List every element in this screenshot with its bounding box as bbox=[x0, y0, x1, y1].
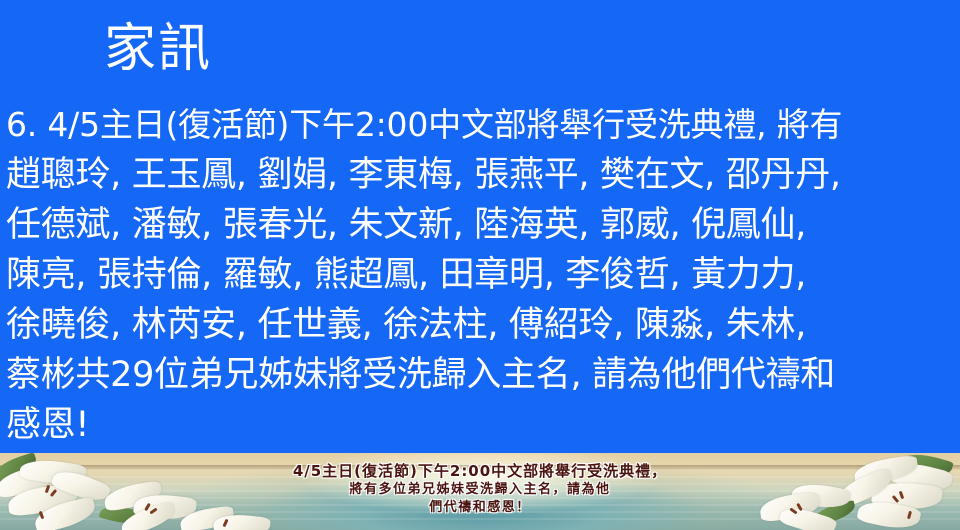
banner-caption-line-2: 將有多位弟兄姊妹受洗歸入主名，請為他 bbox=[0, 481, 960, 499]
announcement-text-block: 6. 4/5主日(復活節)下午2:00中文部將舉行受洗典禮, 將有 趙聰玲, 王… bbox=[6, 100, 958, 450]
banner-caption: 4/5主日(復活節)下午2:00中文部將舉行受洗典禮， 將有多位弟兄姊妹受洗歸入… bbox=[0, 461, 960, 517]
announcement-line: 趙聰玲, 王玉鳳, 劉娟, 李東梅, 張燕平, 樊在文, 邵丹丹, bbox=[6, 150, 958, 200]
page-title: 家訊 bbox=[104, 18, 212, 80]
banner-caption-line-3: 們代禱和感恩！ bbox=[0, 499, 960, 517]
announcement-slide: 家訊 6. 4/5主日(復活節)下午2:00中文部將舉行受洗典禮, 將有 趙聰玲… bbox=[0, 0, 960, 530]
lily-pond-banner-image: 4/5主日(復活節)下午2:00中文部將舉行受洗典禮， 將有多位弟兄姊妹受洗歸入… bbox=[0, 453, 960, 530]
announcement-line: 蔡彬共29位弟兄姊妹將受洗歸入主名, 請為他們代禱和 bbox=[6, 350, 958, 400]
announcement-line: 6. 4/5主日(復活節)下午2:00中文部將舉行受洗典禮, 將有 bbox=[6, 100, 958, 150]
banner-caption-line-1: 4/5主日(復活節)下午2:00中文部將舉行受洗典禮， bbox=[0, 461, 960, 481]
announcement-line: 陳亮, 張持倫, 羅敏, 熊超鳳, 田章明, 李俊哲, 黃力力, bbox=[6, 250, 958, 300]
announcement-line: 徐曉俊, 林芮安, 任世義, 徐法柱, 傅紹玲, 陳淼, 朱林, bbox=[6, 300, 958, 350]
announcement-line: 任德斌, 潘敏, 張春光, 朱文新, 陸海英, 郭威, 倪鳳仙, bbox=[6, 200, 958, 250]
announcement-line: 感恩! bbox=[6, 400, 958, 450]
blue-content-area: 家訊 6. 4/5主日(復活節)下午2:00中文部將舉行受洗典禮, 將有 趙聰玲… bbox=[0, 0, 960, 453]
